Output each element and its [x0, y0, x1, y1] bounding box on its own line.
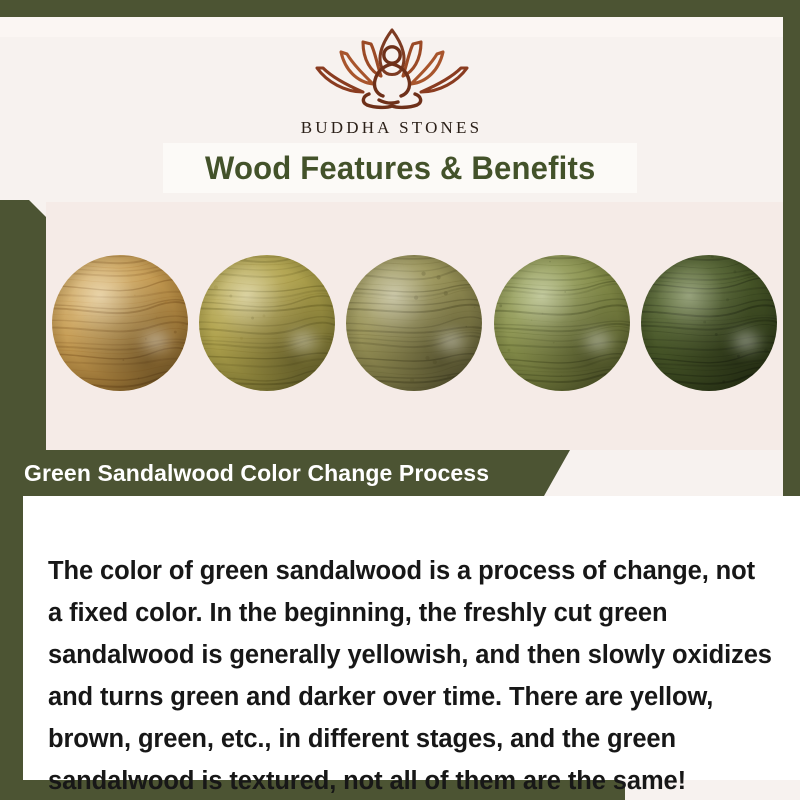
body-panel: The color of green sandalwood is a proce… — [23, 496, 800, 780]
bead-shading — [641, 255, 777, 391]
title-banner: Wood Features & Benefits — [163, 143, 637, 193]
bead-specular-highlight — [136, 326, 176, 356]
bead-shading — [52, 255, 188, 391]
bead-specular-highlight — [578, 326, 618, 356]
bead-stage-3 — [346, 255, 482, 391]
bead-shading — [346, 255, 482, 391]
brand-wordmark: BUDDHA STONES — [0, 118, 783, 138]
section-header-banner: Green Sandalwood Color Change Process — [0, 450, 570, 496]
lotus-meditation-figure-icon — [297, 22, 487, 114]
infographic-root: BUDDHA STONES Wood Features & Benefits G… — [0, 0, 800, 800]
section-header-title: Green Sandalwood Color Change Process — [24, 460, 489, 487]
bead-shading — [494, 255, 630, 391]
bead-stage-5 — [641, 255, 777, 391]
bead-row — [46, 255, 783, 391]
bead-specular-highlight — [431, 326, 471, 356]
bead-shading — [199, 255, 335, 391]
brand-logo-block: BUDDHA STONES — [0, 22, 783, 138]
body-paragraph: The color of green sandalwood is a proce… — [48, 550, 773, 800]
bead-stage-2 — [199, 255, 335, 391]
frame-top-bar — [0, 0, 800, 17]
bead-showcase-strip — [46, 202, 783, 450]
page-title: Wood Features & Benefits — [205, 150, 595, 187]
bead-stage-4 — [494, 255, 630, 391]
bead-specular-highlight — [283, 326, 323, 356]
bead-specular-highlight — [726, 326, 766, 356]
bead-stage-1 — [52, 255, 188, 391]
